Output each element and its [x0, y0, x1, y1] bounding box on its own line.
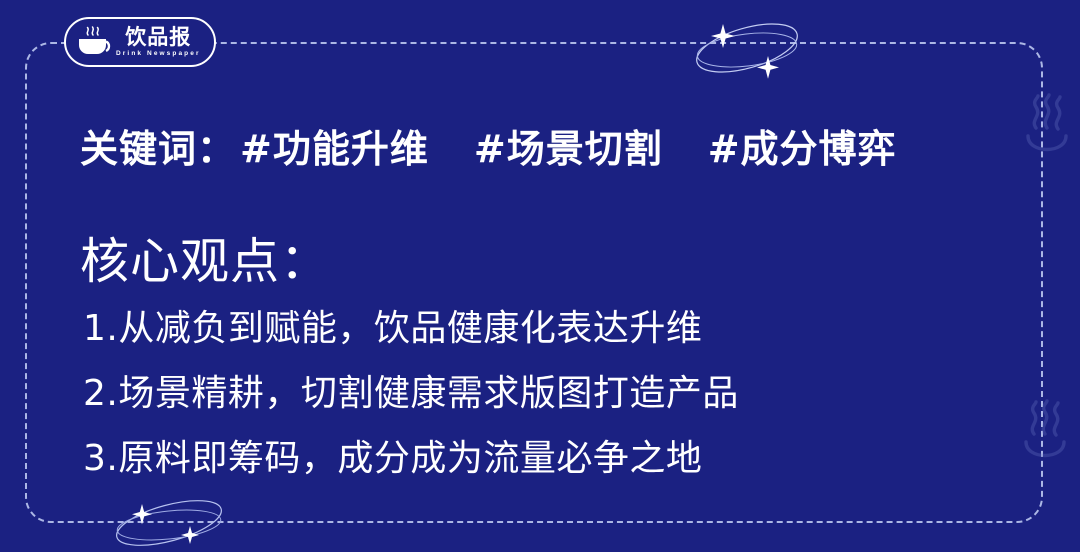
brand-logo[interactable]: 饮品报 Drink Newspaper — [64, 17, 216, 67]
keywords-row: 关键词： #功能升维 #场景切割 #成分博弈 — [80, 118, 897, 173]
keyword-tag-2: #场景切割 — [474, 118, 663, 173]
poster-content: 关键词： #功能升维 #场景切割 #成分博弈 核心观点： 1.从减负到赋能，饮品… — [0, 0, 1080, 552]
key-points-list: 1.从减负到赋能，饮品健康化表达升维 2.场景精耕，切割健康需求版图打造产品 3… — [83, 296, 739, 491]
coffee-cup-icon — [74, 25, 114, 59]
poster-canvas: 饮品报 Drink Newspaper 关键词： #功能升维 #场景切割 #成分… — [0, 0, 1080, 552]
keywords-label: 关键词： — [80, 118, 236, 173]
keyword-tag-3: #成分博弈 — [708, 118, 897, 173]
brand-name-en: Drink Newspaper — [116, 51, 201, 57]
key-point-1: 1.从减负到赋能，饮品健康化表达升维 — [83, 296, 739, 361]
brand-text: 饮品报 Drink Newspaper — [116, 26, 201, 58]
keyword-tag-1: #功能升维 — [240, 118, 429, 173]
section-heading: 核心观点： — [80, 222, 330, 293]
key-point-2: 2.场景精耕，切割健康需求版图打造产品 — [83, 361, 739, 426]
brand-name-cn: 饮品报 — [125, 27, 191, 48]
key-point-3: 3.原料即筹码，成分成为流量必争之地 — [83, 426, 739, 491]
